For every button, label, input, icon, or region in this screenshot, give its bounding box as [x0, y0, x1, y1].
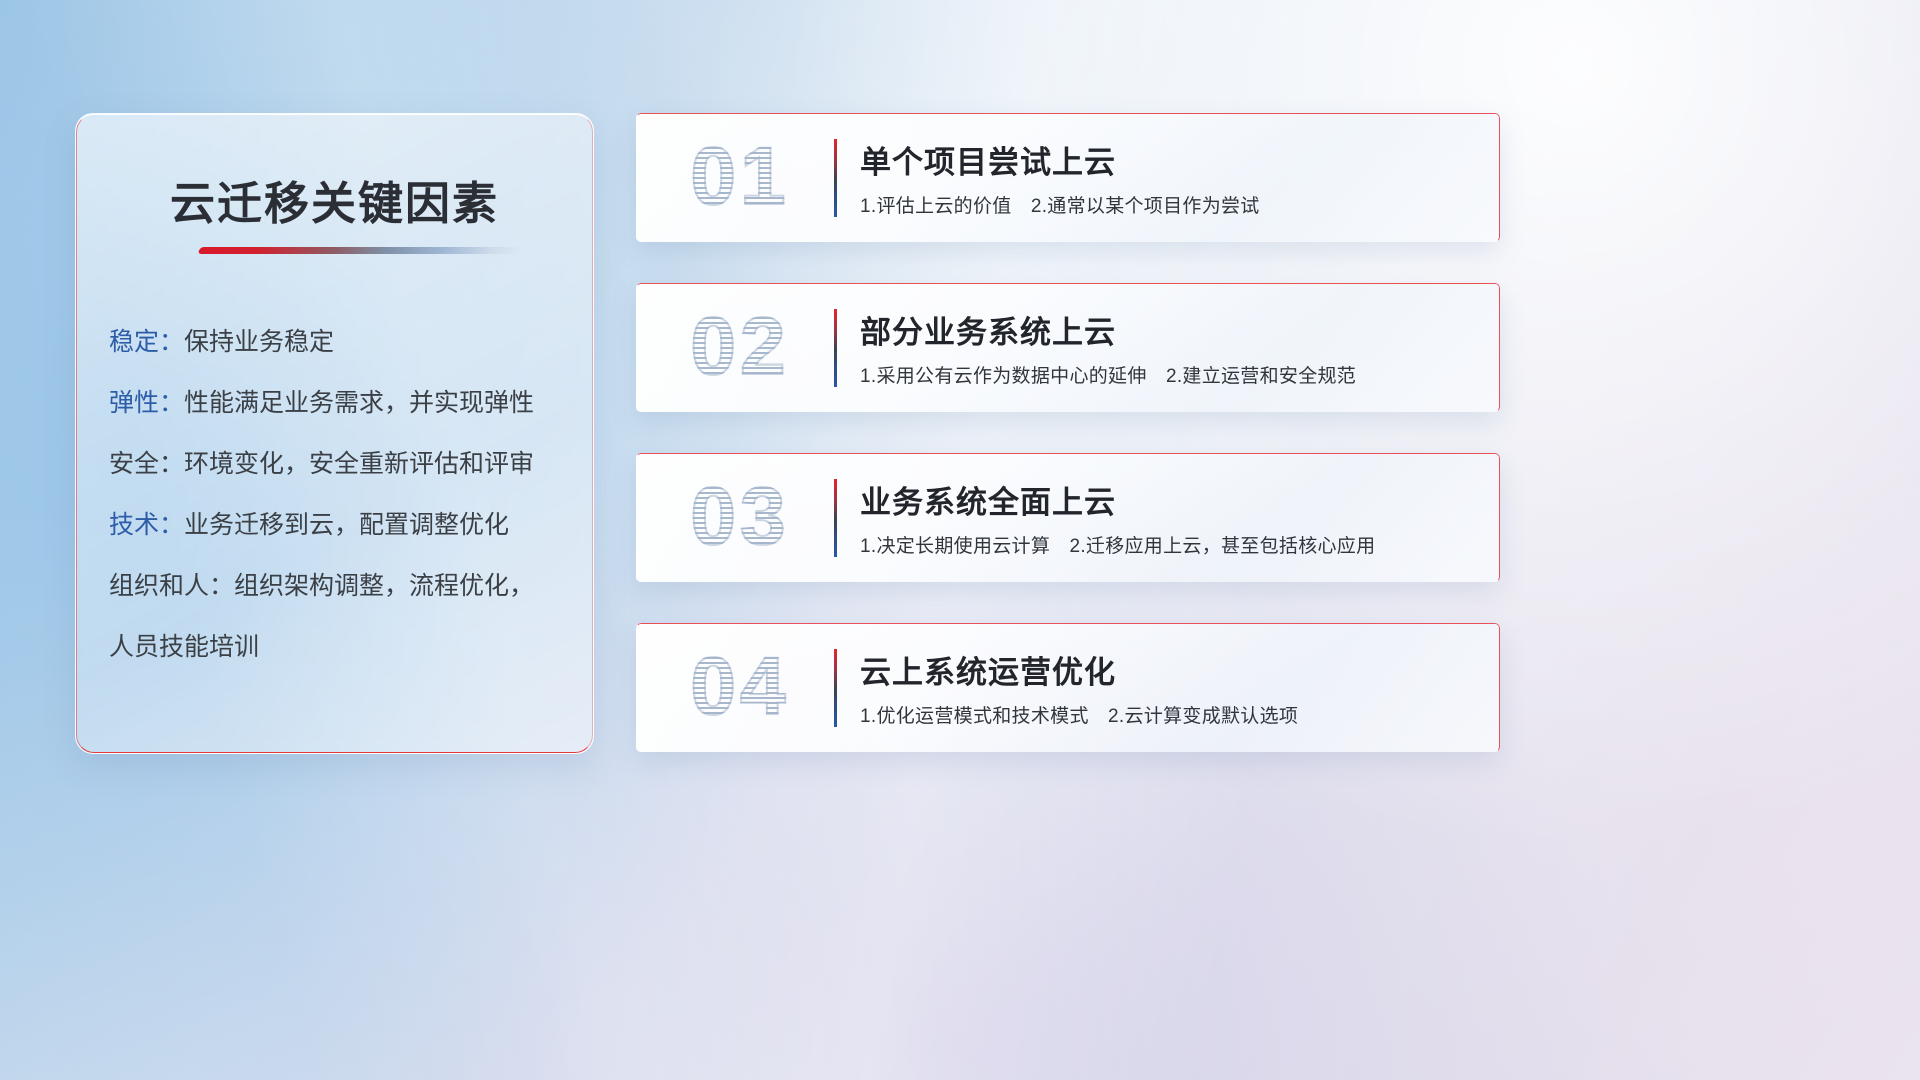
- stage-description: 1.决定长期使用云计算 2.迁移应用上云，甚至包括核心应用: [860, 531, 1375, 558]
- stage-description: 1.采用公有云作为数据中心的延伸 2.建立运营和安全规范: [860, 361, 1356, 388]
- stage-accent-bar: [834, 309, 837, 387]
- factor-text: 人员技能培训: [109, 633, 259, 661]
- page-title: 云迁移关键因素: [76, 167, 593, 232]
- stage-title: 云上系统运营优化: [860, 647, 1116, 692]
- stage-card-list: 01 单个项目尝试上云 1.评估上云的价值 2.通常以某个项目作为尝试 02 部…: [636, 113, 1500, 793]
- list-item: 弹性：性能满足业务需求，并实现弹性: [109, 373, 571, 434]
- stage-description: 1.优化运营模式和技术模式 2.云计算变成默认选项: [860, 701, 1298, 728]
- stage-title: 业务系统全面上云: [860, 477, 1116, 522]
- stage-card[interactable]: 03 业务系统全面上云 1.决定长期使用云计算 2.迁移应用上云，甚至包括核心应…: [636, 453, 1500, 582]
- slide-canvas: 云迁移关键因素 稳定：保持业务稳定 弹性：性能满足业务需求，并实现弹性 安全：环…: [0, 0, 1920, 1080]
- factor-text: 环境变化，安全重新评估和评审: [184, 450, 534, 478]
- stage-title: 部分业务系统上云: [860, 307, 1116, 352]
- list-item-continuation: 人员技能培训: [109, 617, 571, 678]
- stage-number: 04: [660, 637, 820, 737]
- stage-title: 单个项目尝试上云: [860, 137, 1116, 182]
- factor-text: 保持业务稳定: [184, 328, 334, 356]
- factor-label: 稳定：: [109, 328, 184, 356]
- factor-label: 技术：: [109, 511, 184, 539]
- list-item: 技术：业务迁移到云，配置调整优化: [109, 495, 571, 556]
- stage-accent-bar: [834, 479, 837, 557]
- list-item: 安全：环境变化，安全重新评估和评审: [109, 434, 571, 495]
- stage-number: 02: [660, 297, 820, 397]
- stage-card[interactable]: 02 部分业务系统上云 1.采用公有云作为数据中心的延伸 2.建立运营和安全规范: [636, 283, 1500, 412]
- factor-text: 性能满足业务需求，并实现弹性: [184, 389, 534, 417]
- stage-number: 01: [660, 127, 820, 227]
- title-underline-accent: [198, 247, 521, 254]
- factor-text: 业务迁移到云，配置调整优化: [184, 511, 509, 539]
- list-item: 组织和人：组织架构调整，流程优化，: [109, 556, 571, 617]
- stage-card[interactable]: 01 单个项目尝试上云 1.评估上云的价值 2.通常以某个项目作为尝试: [636, 113, 1500, 242]
- key-factors-panel: 云迁移关键因素 稳定：保持业务稳定 弹性：性能满足业务需求，并实现弹性 安全：环…: [75, 113, 594, 754]
- list-item: 稳定：保持业务稳定: [109, 312, 571, 373]
- key-factors-list: 稳定：保持业务稳定 弹性：性能满足业务需求，并实现弹性 安全：环境变化，安全重新…: [109, 312, 571, 678]
- stage-description: 1.评估上云的价值 2.通常以某个项目作为尝试: [860, 191, 1260, 218]
- stage-number: 03: [660, 467, 820, 567]
- stage-accent-bar: [834, 139, 837, 217]
- stage-card[interactable]: 04 云上系统运营优化 1.优化运营模式和技术模式 2.云计算变成默认选项: [636, 623, 1500, 752]
- stage-accent-bar: [834, 649, 837, 727]
- factor-label: 组织和人：: [109, 572, 234, 600]
- factor-label: 弹性：: [109, 389, 184, 417]
- factor-text: 组织架构调整，流程优化，: [234, 572, 534, 600]
- factor-label: 安全：: [109, 450, 184, 478]
